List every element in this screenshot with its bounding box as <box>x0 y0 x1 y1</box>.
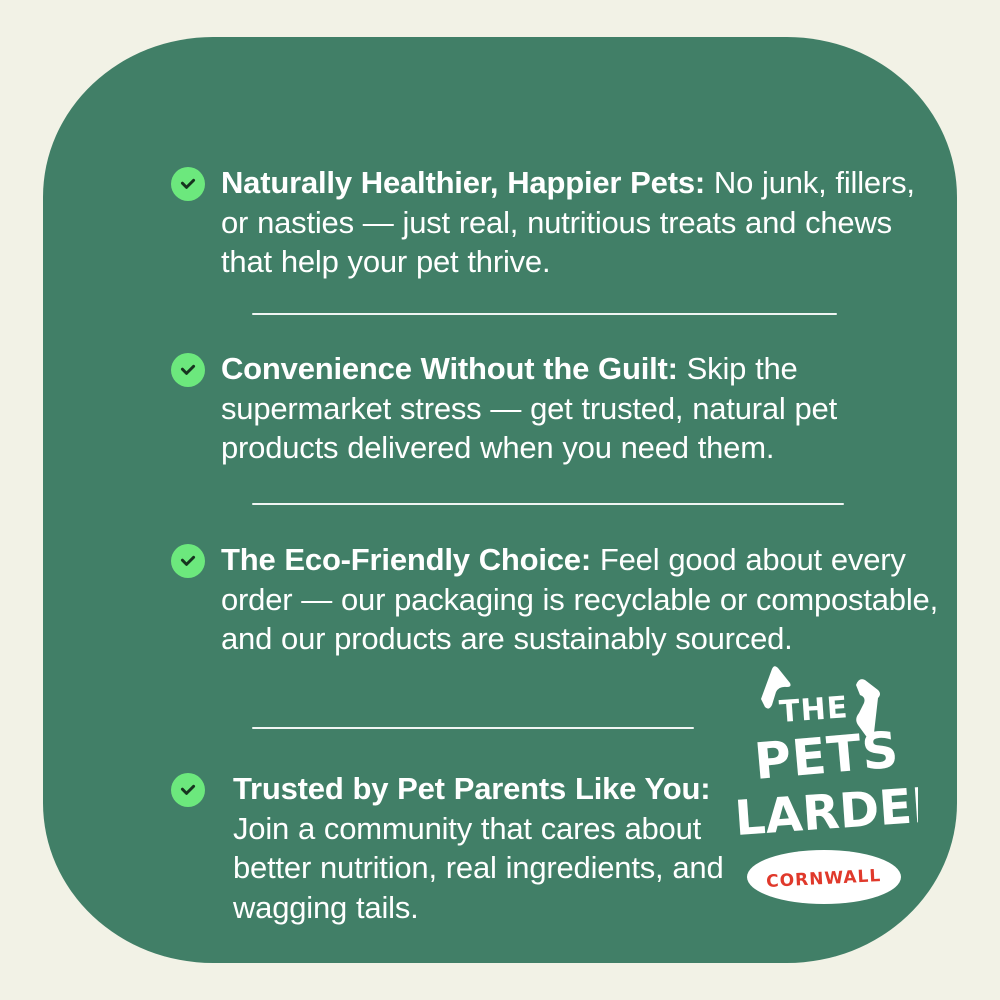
benefit-text: Trusted by Pet Parents Like You: Join a … <box>233 769 743 927</box>
benefit-heading: Naturally Healthier, Happier Pets: <box>221 165 705 200</box>
benefit-text: Naturally Healthier, Happier Pets: No ju… <box>221 163 921 282</box>
benefit-heading: The Eco-Friendly Choice: <box>221 542 591 577</box>
benefit-item: Naturally Healthier, Happier Pets: No ju… <box>171 163 931 282</box>
benefit-heading: Trusted by Pet Parents Like You: <box>233 771 710 806</box>
divider <box>252 503 844 505</box>
benefit-item: Trusted by Pet Parents Like You: Join a … <box>171 769 771 927</box>
logo-line-the: THE <box>778 690 849 730</box>
benefit-body: Join a community that cares about better… <box>233 811 724 925</box>
divider <box>252 727 694 729</box>
benefit-text: Convenience Without the Guilt: Skip the … <box>221 349 941 468</box>
benefit-heading: Convenience Without the Guilt: <box>221 351 678 386</box>
check-circle-icon <box>171 544 205 578</box>
check-circle-icon <box>171 773 205 807</box>
divider <box>252 313 837 315</box>
check-circle-icon <box>171 353 205 387</box>
benefit-item: Convenience Without the Guilt: Skip the … <box>171 349 941 468</box>
logo-badge: CORNWALL <box>747 850 901 904</box>
brand-logo: THE PETS LARDER CORNWALL <box>728 637 918 917</box>
benefits-card: Naturally Healthier, Happier Pets: No ju… <box>43 37 957 963</box>
check-circle-icon <box>171 167 205 201</box>
svg-text:THE: THE <box>778 690 849 730</box>
